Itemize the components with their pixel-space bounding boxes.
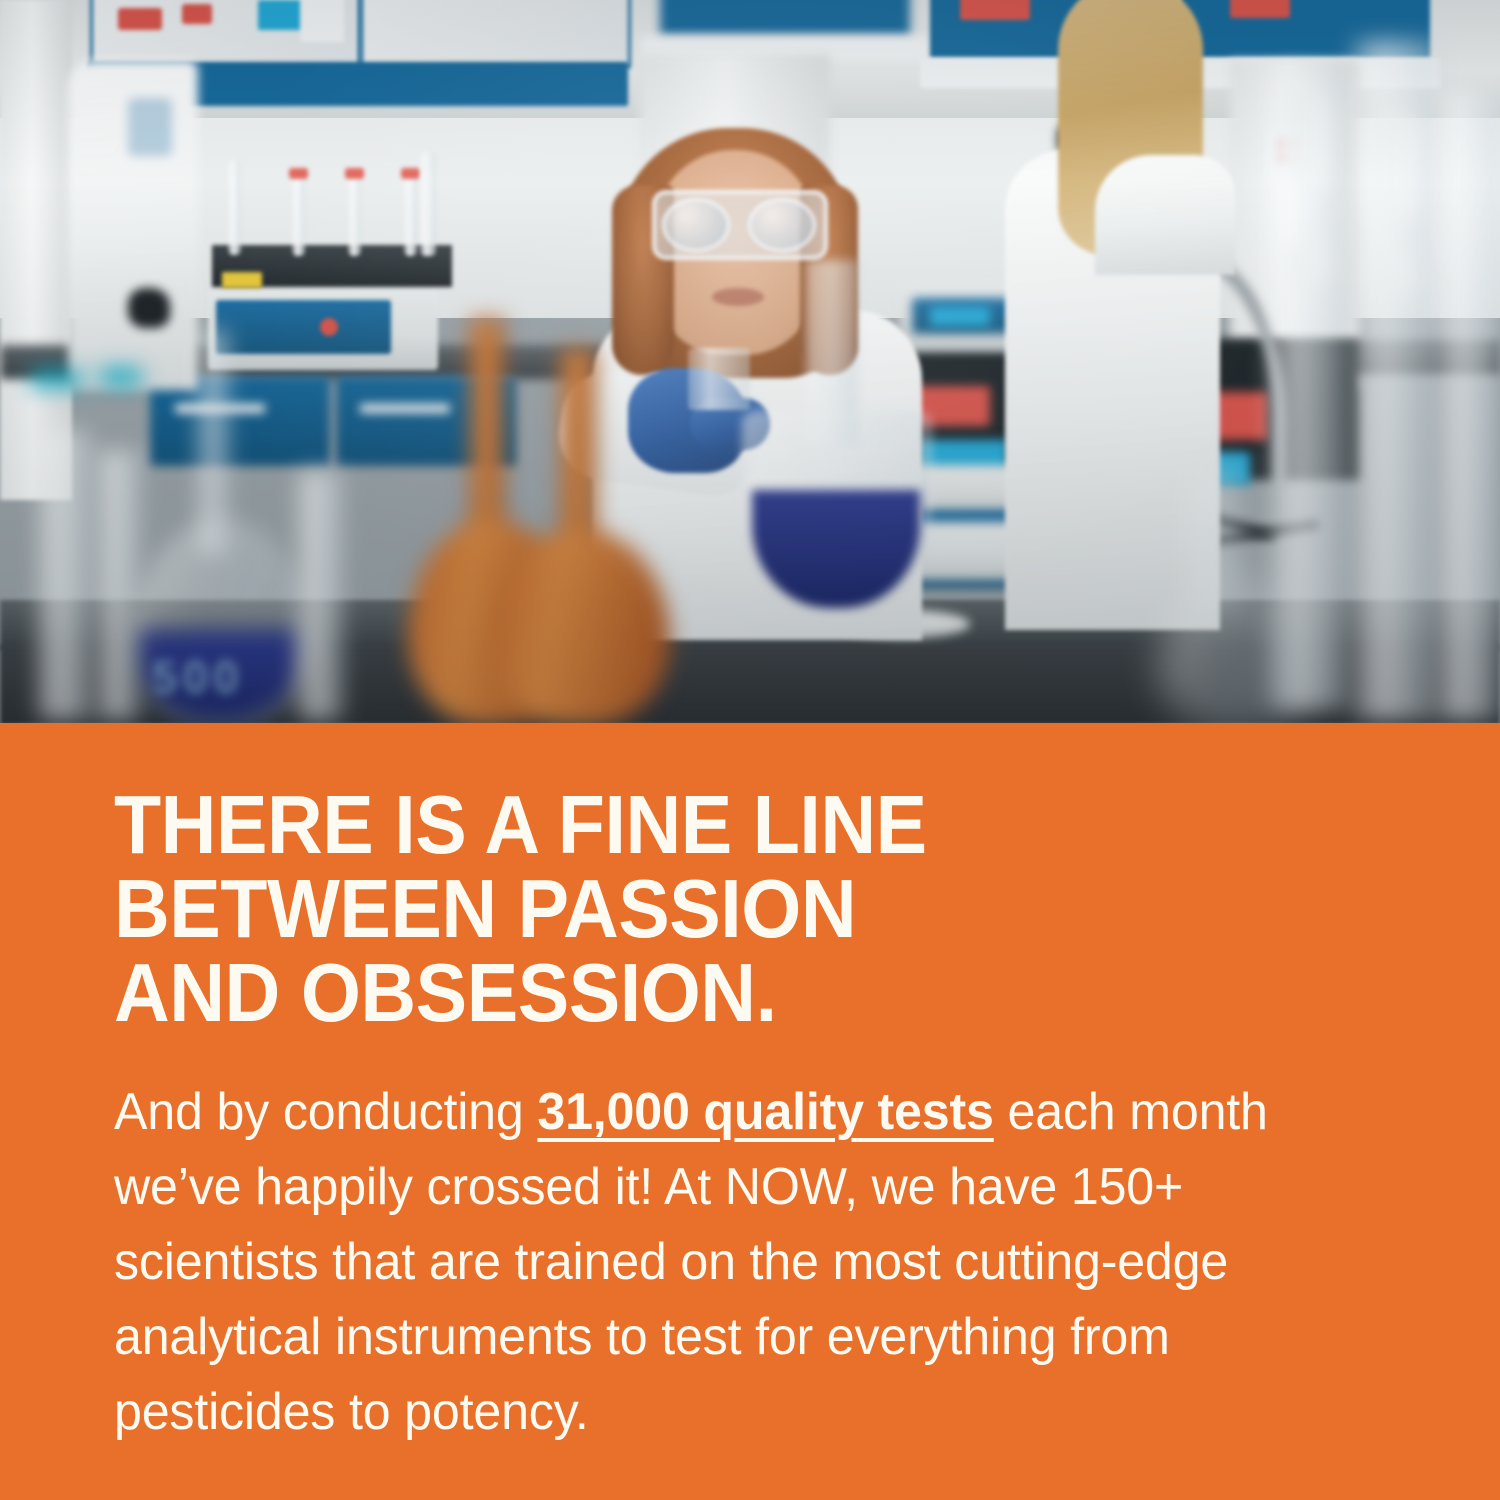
photo-scene: 500 <box>0 0 1500 723</box>
test-tube-cap-3 <box>345 168 364 179</box>
headline-line-3: AND OBSESSION. <box>114 951 1314 1035</box>
test-tube-3 <box>348 168 361 256</box>
cabinet-handle-left-b <box>360 404 450 413</box>
goggle-lens-left <box>662 198 730 252</box>
amber-flask-neck-a <box>470 318 504 548</box>
scientist-right-shoulder <box>1095 155 1235 275</box>
shelf-item-red-b <box>182 4 212 24</box>
test-tube-5 <box>420 152 436 256</box>
cylinder-band-b <box>100 368 142 386</box>
cylinder-highlight-right-d <box>1370 250 1414 296</box>
graduated-cylinder-left-b <box>96 450 142 720</box>
laboratory-photo: 500 <box>0 0 1500 723</box>
shelf-item-white-a <box>300 0 344 42</box>
upper-cabinet-center <box>660 0 910 36</box>
cylinder-highlight-right-b <box>1366 110 1418 220</box>
graduated-cylinder-left-c <box>296 470 344 720</box>
page-title: THERE IS A FINE LINE BETWEEN PASSION AND… <box>114 783 1314 1035</box>
graduated-cylinder-right-c <box>1436 90 1500 720</box>
rear-instrument-accent <box>930 306 990 326</box>
test-tube-cap-4 <box>401 168 420 179</box>
cylinder-highlight-right-a <box>1282 90 1328 190</box>
test-tube-2 <box>292 168 305 256</box>
scientist-left-collar <box>128 98 172 156</box>
quality-tests-emphasis: 31,000 quality tests <box>537 1083 993 1141</box>
orange-message-panel: THERE IS A FINE LINE BETWEEN PASSION AND… <box>0 723 1500 1500</box>
cylinder-band-a <box>30 370 82 388</box>
tube-rack-label <box>222 272 262 288</box>
shelf-item-red-c <box>960 0 1030 20</box>
test-tube-cap-2 <box>289 168 308 179</box>
headline-line-1: THERE IS A FINE LINE <box>114 783 1314 867</box>
amber-flask-neck-b <box>560 348 596 558</box>
graduated-cylinder-left <box>36 430 94 720</box>
body-copy-before: And by conducting <box>114 1083 537 1141</box>
test-tube-1 <box>228 160 241 255</box>
shelf-item-red-a <box>118 8 162 30</box>
lab-instrument-panel-left <box>216 300 391 354</box>
small-beaker-center <box>688 348 750 410</box>
upper-cabinet-midleft <box>360 0 631 68</box>
test-tube-4 <box>404 168 417 256</box>
structural-pillar-left <box>0 0 72 500</box>
scientist-center-mouth <box>712 288 764 306</box>
flask-volume-label: 500 <box>152 650 244 704</box>
scientist-left-hand <box>128 288 170 328</box>
goggle-lens-right <box>748 198 816 252</box>
promotional-graphic: 500 TH <box>0 0 1500 1500</box>
shelf-item-red-d <box>1230 0 1290 18</box>
body-copy: And by conducting 31,000 quality tests e… <box>114 1075 1332 1450</box>
cylinder-highlight-right-c <box>1286 240 1326 286</box>
headline-line-2: BETWEEN PASSION <box>114 867 1314 951</box>
instrument-indicator-left <box>320 318 338 336</box>
